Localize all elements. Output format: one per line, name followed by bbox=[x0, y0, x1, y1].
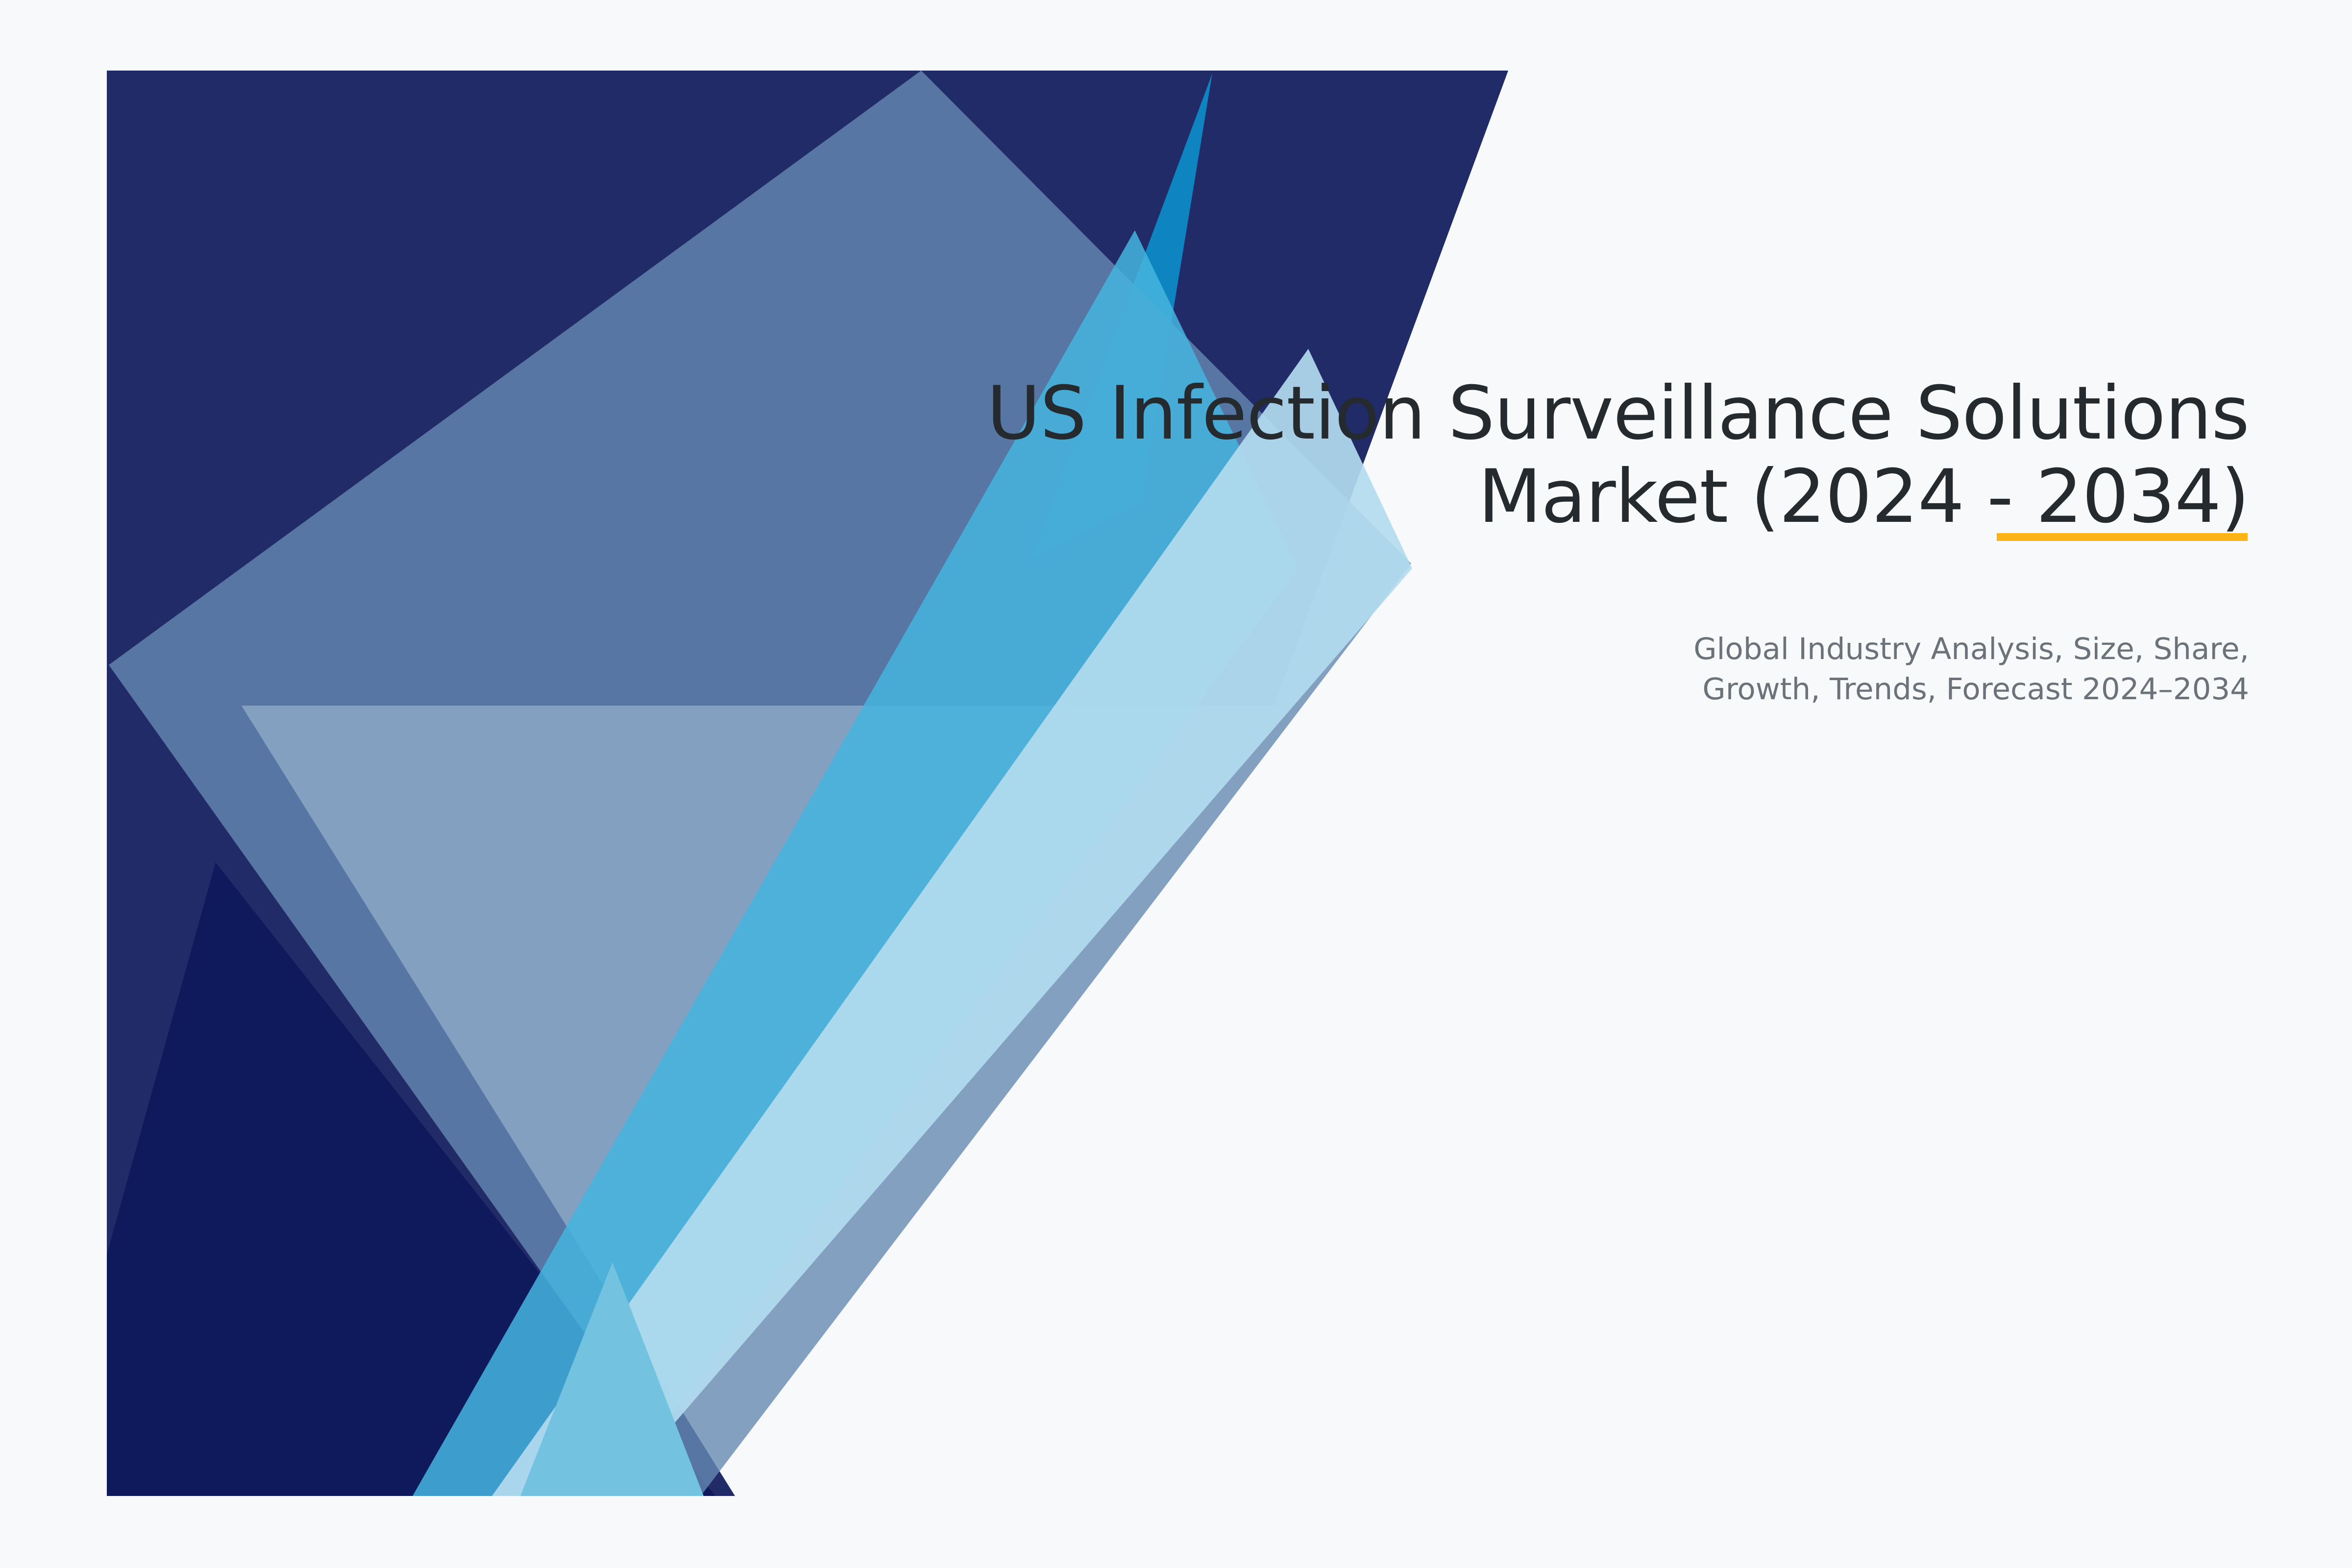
cover-text-block: US Infection Surveillance Solutions Mark… bbox=[877, 372, 2249, 710]
page-title: US Infection Surveillance Solutions Mark… bbox=[877, 372, 2249, 539]
title-line-1: US Infection Surveillance Solutions bbox=[987, 371, 2249, 456]
title-accent-underline bbox=[1997, 533, 2248, 541]
subtitle-line-1: Global Industry Analysis, Size, Share, bbox=[1693, 632, 2249, 666]
abstract-geometric-artwork bbox=[0, 0, 2352, 1568]
cover-page: US Infection Surveillance Solutions Mark… bbox=[0, 0, 2352, 1568]
page-subtitle: Global Industry Analysis, Size, Share, G… bbox=[877, 539, 2249, 710]
subtitle-line-2: Growth, Trends, Forecast 2024–2034 bbox=[1702, 672, 2249, 707]
title-line-2: Market (2024 - 2034) bbox=[1478, 454, 2249, 539]
